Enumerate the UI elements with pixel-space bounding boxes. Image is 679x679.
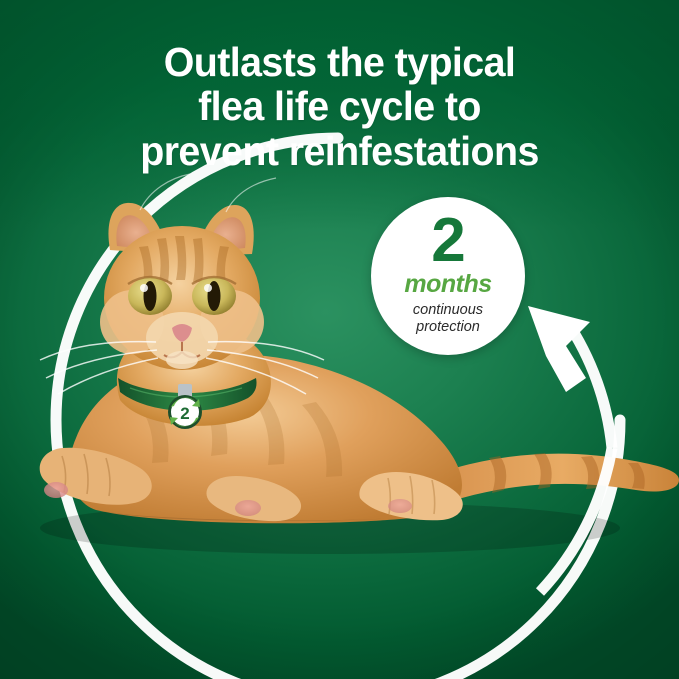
badge-subtitle-line-2: protection bbox=[413, 319, 483, 336]
badge-number: 2 bbox=[431, 212, 464, 269]
badge-subtitle-line-1: continuous bbox=[413, 302, 483, 319]
cycle-arrow-front bbox=[0, 0, 679, 679]
marketing-image: Outlasts the typical flea life cycle to … bbox=[0, 0, 679, 679]
badge-months-label: months bbox=[404, 272, 491, 297]
badge-subtitle: continuous protection bbox=[413, 302, 483, 336]
duration-badge: 2 months continuous protection bbox=[371, 197, 525, 355]
